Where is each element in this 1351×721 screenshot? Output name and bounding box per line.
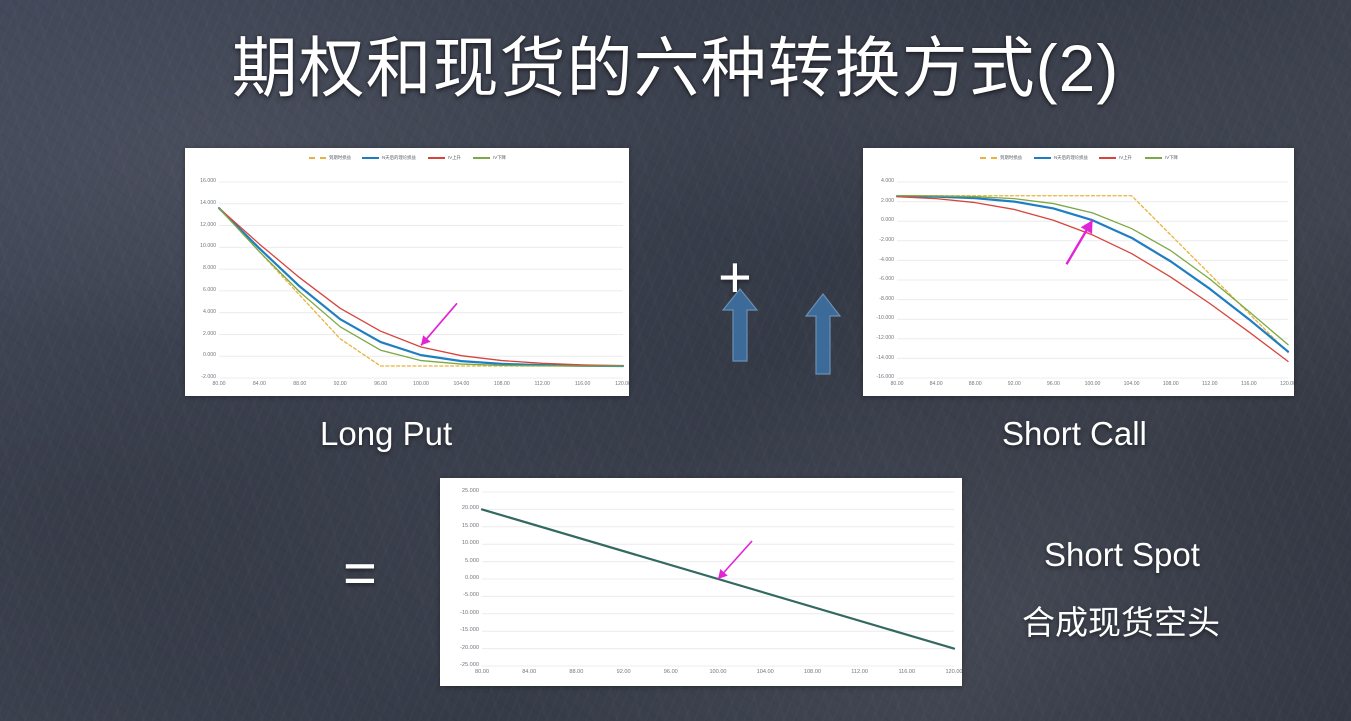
- magenta-arrow-pointer-icon: [718, 541, 752, 579]
- x-axis-tick-label: 100.00: [405, 382, 437, 387]
- y-axis-tick-label: 10.000: [200, 244, 216, 249]
- x-axis-tick-label: 88.00: [284, 382, 316, 387]
- magenta-arrow-pointer-icon: [421, 303, 457, 345]
- caption-short-call: Short Call: [1002, 415, 1147, 453]
- up-arrow-icon-left: [721, 287, 759, 363]
- x-axis-tick-label: 80.00: [203, 382, 235, 387]
- x-axis-tick-label: 108.00: [1155, 382, 1187, 387]
- x-axis-tick-label: 92.00: [998, 382, 1030, 387]
- chart-short-call[interactable]: 到期时损益N天后的理论损益IV上升IV下降4.0002.0000.000-2.0…: [863, 148, 1294, 396]
- x-axis-tick-label: 92.00: [608, 670, 640, 676]
- page-title: 期权和现货的六种转换方式(2): [0, 34, 1351, 103]
- x-axis-tick-label: 96.00: [655, 670, 687, 676]
- series-line: [897, 196, 1288, 345]
- caption-long-put: Long Put: [320, 415, 452, 453]
- y-axis-tick-label: -6.000: [879, 277, 894, 282]
- x-axis-tick-label: 96.00: [1037, 382, 1069, 387]
- y-axis-tick-label: -14.000: [876, 356, 894, 361]
- x-axis-tick-label: 84.00: [243, 382, 275, 387]
- x-axis-tick-label: 112.00: [844, 670, 876, 676]
- series-line: [897, 196, 1288, 351]
- y-axis-tick-label: 4.000: [881, 179, 894, 184]
- x-axis-tick-label: 92.00: [324, 382, 356, 387]
- y-axis-tick-label: 16.000: [200, 179, 216, 184]
- y-axis-tick-label: 5.000: [465, 559, 479, 565]
- up-arrow-icon-right: [804, 292, 842, 376]
- y-axis-tick-label: 8.000: [203, 266, 216, 271]
- y-axis-tick-label: 0.000: [881, 218, 894, 223]
- plot-area: [440, 478, 962, 686]
- y-axis-tick-label: 2.000: [881, 199, 894, 204]
- equals-operator: =: [343, 545, 377, 603]
- x-axis-tick-label: 80.00: [881, 382, 913, 387]
- x-axis-tick-label: 120.00: [938, 670, 962, 676]
- x-axis-tick-label: 120.00: [607, 382, 629, 387]
- plot-area: [863, 148, 1294, 396]
- x-axis-tick-label: 120.00: [1272, 382, 1294, 387]
- series-line: [219, 208, 623, 366]
- y-axis-tick-label: 20.000: [462, 506, 479, 512]
- y-axis-tick-label: 15.000: [462, 524, 479, 530]
- y-axis-tick-label: -2.000: [201, 375, 216, 380]
- x-axis-tick-label: 100.00: [1077, 382, 1109, 387]
- y-axis-tick-label: -20.000: [460, 646, 479, 652]
- y-axis-tick-label: -4.000: [879, 258, 894, 263]
- x-axis-tick-label: 100.00: [702, 670, 734, 676]
- y-axis-tick-label: 4.000: [203, 310, 216, 315]
- y-axis-tick-label: 6.000: [203, 288, 216, 293]
- y-axis-tick-label: -12.000: [876, 336, 894, 341]
- x-axis-tick-label: 112.00: [1194, 382, 1226, 387]
- y-axis-tick-label: -2.000: [879, 238, 894, 243]
- y-axis-tick-label: 25.000: [462, 489, 479, 495]
- chart-short-spot[interactable]: 25.00020.00015.00010.0005.0000.000-5.000…: [440, 478, 962, 686]
- x-axis-tick-label: 108.00: [796, 670, 828, 676]
- caption-short-spot-en: Short Spot: [1044, 536, 1200, 574]
- x-axis-tick-label: 96.00: [365, 382, 397, 387]
- caption-short-spot-cn: 合成现货空头: [1022, 604, 1220, 642]
- series-line: [219, 208, 623, 366]
- y-axis-tick-label: -10.000: [876, 316, 894, 321]
- y-axis-tick-label: 0.000: [465, 576, 479, 582]
- y-axis-tick-label: -25.000: [460, 663, 479, 669]
- y-axis-tick-label: -8.000: [879, 297, 894, 302]
- x-axis-tick-label: 104.00: [445, 382, 477, 387]
- x-axis-tick-label: 116.00: [1233, 382, 1265, 387]
- series-line: [219, 208, 623, 366]
- x-axis-tick-label: 88.00: [560, 670, 592, 676]
- x-axis-tick-label: 88.00: [959, 382, 991, 387]
- chart-long-put[interactable]: 到期时损益N天后的理论损益IV上升IV下降16.00014.00012.0001…: [185, 148, 629, 396]
- x-axis-tick-label: 116.00: [891, 670, 923, 676]
- y-axis-tick-label: -5.000: [463, 593, 479, 599]
- x-axis-tick-label: 104.00: [749, 670, 781, 676]
- x-axis-tick-label: 84.00: [920, 382, 952, 387]
- x-axis-tick-label: 116.00: [567, 382, 599, 387]
- y-axis-tick-label: 14.000: [200, 201, 216, 206]
- y-axis-tick-label: 2.000: [203, 332, 216, 337]
- y-axis-tick-label: 12.000: [200, 223, 216, 228]
- series-line: [219, 208, 623, 366]
- x-axis-tick-label: 80.00: [466, 670, 498, 676]
- x-axis-tick-label: 112.00: [526, 382, 558, 387]
- x-axis-tick-label: 104.00: [1116, 382, 1148, 387]
- y-axis-tick-label: 10.000: [462, 541, 479, 547]
- plot-area: [185, 148, 629, 396]
- y-axis-tick-label: -10.000: [460, 611, 479, 617]
- y-axis-tick-label: 0.000: [203, 353, 216, 358]
- y-axis-tick-label: -15.000: [460, 628, 479, 634]
- x-axis-tick-label: 84.00: [513, 670, 545, 676]
- y-axis-tick-label: -16.000: [876, 375, 894, 380]
- x-axis-tick-label: 108.00: [486, 382, 518, 387]
